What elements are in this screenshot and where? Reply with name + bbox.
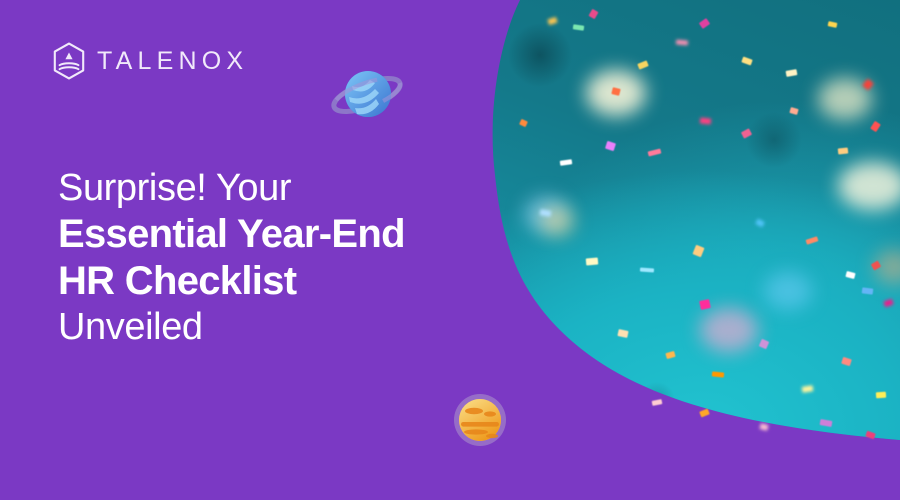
confetti-piece (652, 399, 663, 406)
headline-line-1: Surprise! Your (58, 166, 488, 211)
orange-planet-emoji (452, 392, 508, 448)
headline: Surprise! Your Essential Year-End HR Che… (58, 166, 488, 350)
confetti-piece (759, 423, 768, 431)
confetti-piece (838, 147, 849, 154)
talenox-wordmark: TALENOX (97, 49, 248, 74)
talenox-hexagon-logo-icon (52, 42, 86, 80)
confetti-piece (586, 257, 599, 265)
headline-line-3: HR Checklist (58, 258, 488, 305)
marketing-banner: TALENOX Surprise! Your Essential Year-En… (0, 0, 900, 500)
confetti-piece (700, 117, 712, 124)
headline-line-2: Essential Year-End (58, 211, 488, 258)
confetti-piece (862, 287, 874, 294)
confetti-piece (676, 39, 688, 45)
headline-line-4: Unveiled (58, 305, 488, 350)
confetti-piece (876, 392, 886, 399)
talenox-logo[interactable]: TALENOX (52, 42, 248, 80)
ringed-planet-emoji (330, 62, 404, 128)
confetti-piece (699, 409, 710, 418)
